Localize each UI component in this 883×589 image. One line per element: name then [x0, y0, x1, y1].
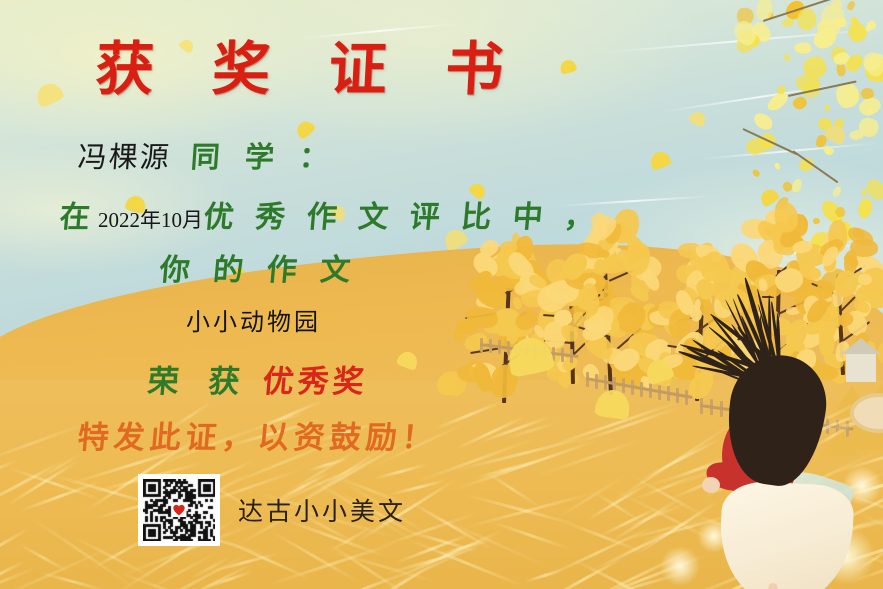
recipient-name: 冯棵源: [77, 134, 173, 176]
award-date: 2022年10月: [98, 204, 203, 234]
award-prefix: 荣 获: [146, 356, 253, 401]
award-line: 荣 获 优秀奖: [148, 356, 368, 401]
heart-icon: [172, 503, 187, 517]
essay-title: 小小动物园: [186, 302, 321, 337]
context-text: 优 秀 作 文 评 比 中 ，: [202, 192, 603, 236]
your-essay-label: 你 的 作 文: [158, 245, 360, 289]
certificate-canvas: 获 奖 证 书 冯棵源 同 学 ： 在 2022年10月 优 秀 作 文 评 比…: [0, 0, 883, 589]
recipient-line: 冯棵源 同 学 ：: [78, 134, 338, 176]
recipient-suffix: 同 学 ：: [190, 134, 339, 176]
qr-code[interactable]: [138, 474, 220, 546]
qr-matrix: [143, 479, 215, 541]
award-name: 优秀奖: [261, 356, 370, 401]
closing-statement: 特发此证，以资鼓励！: [76, 412, 440, 457]
context-line: 在 2022年10月 优 秀 作 文 评 比 中 ，: [60, 192, 602, 236]
context-prefix-char: 在: [58, 192, 99, 236]
certificate-title: 获 奖 证 书: [94, 22, 528, 106]
issuer-signature: 达古小小美文: [238, 492, 406, 528]
certificate-content: 获 奖 证 书 冯棵源 同 学 ： 在 2022年10月 优 秀 作 文 评 比…: [0, 0, 883, 589]
